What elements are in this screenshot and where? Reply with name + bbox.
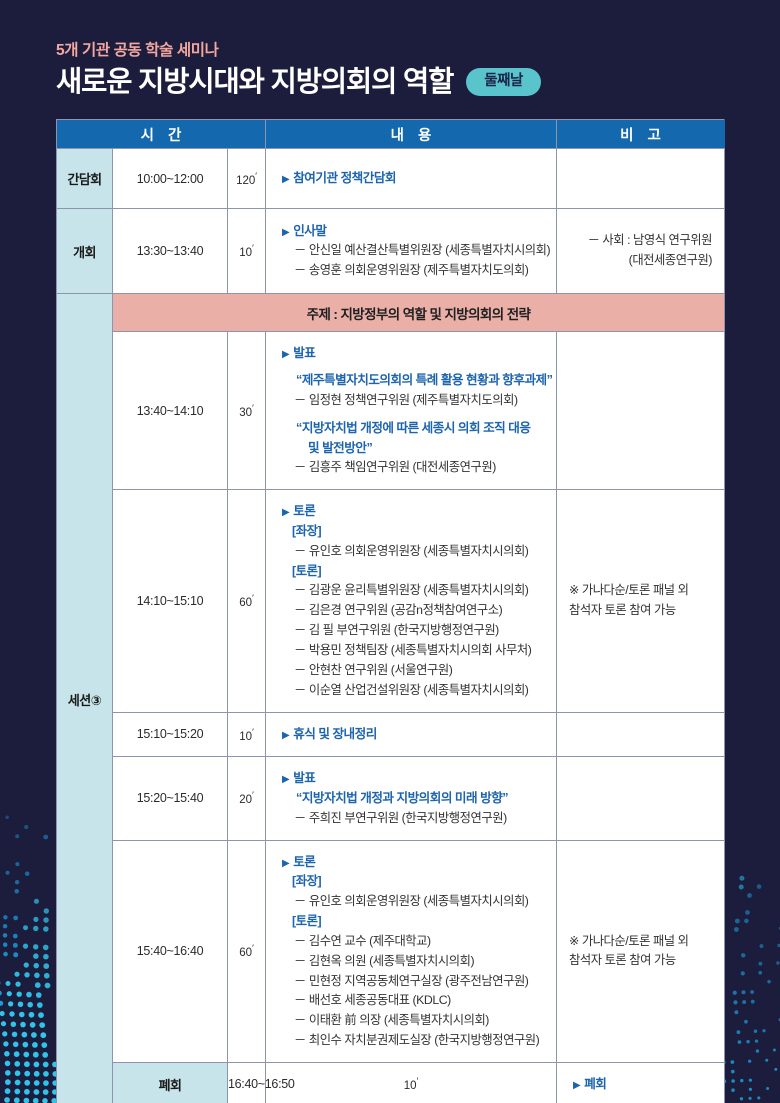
chair-label: [좌장]: [282, 872, 556, 892]
row-remarks: [557, 756, 725, 840]
remark-line: ※ 가나다순/토론 패널 외: [569, 581, 712, 601]
content-heading: ▶토론: [282, 501, 556, 521]
column-header-time: 시 간: [57, 120, 266, 149]
person-entry: － 최인수 자치분권제도실장 (한국지방행정연구원): [282, 1031, 556, 1051]
triangle-bullet-icon: ▶: [282, 507, 289, 518]
row-content: ▶토론 [좌장] － 유인호 의회운영위원장 (세종특별자치시의회) [토론] …: [266, 840, 557, 1063]
person-entry: － 김은경 연구위원 (공감n정책참여연구소): [282, 601, 556, 621]
content-heading: ▶발표: [282, 768, 556, 788]
person-entry: － 배선호 세종공동대표 (KDLC): [282, 991, 556, 1011]
table-row: 15:40~16:40 60′ ▶토론 [좌장] － 유인호 의회운영위원장 (…: [57, 840, 725, 1063]
triangle-bullet-icon: ▶: [282, 349, 289, 360]
row-time: 16:40~16:50: [228, 1063, 266, 1103]
person-entry: － 주희진 부연구위원 (한국지방행정연구원): [282, 809, 556, 829]
table-row: 14:10~15:10 60′ ▶토론 [좌장] － 유인호 의회운영위원장 (…: [57, 490, 725, 713]
content-heading: ▶폐회: [573, 1074, 724, 1094]
row-content: ▶발표 “제주특별자치도의회의 특례 활용 현황과 향후과제” － 임정현 정책…: [266, 332, 557, 490]
row-content: ▶휴식 및 장내정리: [266, 712, 557, 756]
person-entry: － 박용민 정책팀장 (세종특별자치시의회 사무처): [282, 641, 556, 661]
person-entry: － 안신일 예산결산특별위원장 (세종특별자치시의회): [282, 241, 556, 261]
triangle-bullet-icon: ▶: [573, 1080, 580, 1091]
table-row-banner: 세션③ 주제 : 지방정부의 역할 및 지방의회의 전략: [57, 294, 725, 332]
table-row: 15:10~15:20 10′ ▶휴식 및 장내정리: [57, 712, 725, 756]
person-entry: － 김광운 윤리특별위원장 (세종특별자치시의회): [282, 581, 556, 601]
session-label: 폐회: [113, 1063, 228, 1103]
row-duration: 120′: [228, 149, 266, 209]
person-entry: － 김흥주 책임연구위원 (대전세종연구원): [282, 458, 556, 478]
person-entry: － 김현옥 의원 (세종특별자치시의회): [282, 952, 556, 972]
session-label-span: 세션③: [57, 294, 113, 1103]
content-heading: ▶인사말: [282, 221, 556, 241]
person-entry: － 김 필 부연구위원 (한국지방행정연구원): [282, 621, 556, 641]
remark-line: － 사회 : 남영식 연구위원: [569, 231, 712, 251]
triangle-bullet-icon: ▶: [282, 174, 289, 185]
day-badge: 둘째날: [466, 68, 541, 96]
row-remarks: [557, 332, 725, 490]
person-entry: － 송영훈 의회운영위원장 (제주특별자치도의회): [282, 261, 556, 281]
poster-header: 5개 기관 공동 학술 세미나 새로운 지방시대와 지방의회의 역할 둘째날: [56, 42, 541, 98]
chair-label: [좌장]: [282, 522, 556, 542]
poster-title: 새로운 지방시대와 지방의회의 역할: [56, 66, 453, 99]
column-header-remarks: 비 고: [557, 120, 725, 149]
schedule-table-wrapper: 시 간 내 용 비 고 간담회 10:00~12:00 120′ ▶참여기관 정…: [56, 119, 724, 1103]
row-time: 15:40~16:40: [113, 840, 228, 1063]
presentation-title: “지방자치법 개정과 지방의회의 미래 방향”: [282, 788, 556, 808]
row-remarks: [557, 712, 725, 756]
schedule-table: 시 간 내 용 비 고 간담회 10:00~12:00 120′ ▶참여기관 정…: [56, 119, 725, 1103]
row-duration: 60′: [228, 490, 266, 713]
person-entry: － 이순열 산업건설위원장 (세종특별자치시의회): [282, 681, 556, 701]
content-heading: ▶휴식 및 장내정리: [282, 724, 556, 744]
person-entry: － 유인호 의회운영위원장 (세종특별자치시의회): [282, 892, 556, 912]
row-content: ▶폐회: [557, 1063, 725, 1103]
seminar-poster: 5개 기관 공동 학술 세미나 새로운 지방시대와 지방의회의 역할 둘째날 시…: [0, 0, 780, 1103]
table-header-row: 시 간 내 용 비 고: [57, 120, 725, 149]
session-label: 개회: [57, 209, 113, 294]
column-header-content: 내 용: [266, 120, 557, 149]
presentation-title-cont: 및 발전방안”: [282, 438, 556, 458]
row-duration: 20′: [228, 756, 266, 840]
person-entry: － 민현정 지역공동체연구실장 (광주전남연구원): [282, 972, 556, 992]
row-duration: 60′: [228, 840, 266, 1063]
row-time: 15:20~15:40: [113, 756, 228, 840]
table-row: 개회 13:30~13:40 10′ ▶인사말 － 안신일 예산결산특별위원장 …: [57, 209, 725, 294]
row-remarks: － 사회 : 남영식 연구위원 (대전세종연구원): [557, 209, 725, 294]
person-entry: － 안현찬 연구위원 (서울연구원): [282, 661, 556, 681]
row-duration: 10′: [228, 209, 266, 294]
row-duration: 30′: [228, 332, 266, 490]
remark-line: (대전세종연구원): [569, 251, 712, 271]
triangle-bullet-icon: ▶: [282, 227, 289, 238]
row-duration: 10′: [266, 1063, 557, 1103]
row-duration: 10′: [228, 712, 266, 756]
row-content: ▶인사말 － 안신일 예산결산특별위원장 (세종특별자치시의회) － 송영훈 의…: [266, 209, 557, 294]
table-row: 15:20~15:40 20′ ▶발표 “지방자치법 개정과 지방의회의 미래 …: [57, 756, 725, 840]
row-time: 10:00~12:00: [113, 149, 228, 209]
row-time: 13:40~14:10: [113, 332, 228, 490]
remark-line: 참석자 토론 참여 가능: [569, 951, 712, 971]
person-entry: － 이태환 前 의장 (세종특별자치시의회): [282, 1011, 556, 1031]
row-time: 14:10~15:10: [113, 490, 228, 713]
row-content: ▶발표 “지방자치법 개정과 지방의회의 미래 방향” － 주희진 부연구위원 …: [266, 756, 557, 840]
row-remarks: ※ 가나다순/토론 패널 외 참석자 토론 참여 가능: [557, 490, 725, 713]
table-row: 13:40~14:10 30′ ▶발표 “제주특별자치도의회의 특례 활용 현황…: [57, 332, 725, 490]
table-row: 간담회 10:00~12:00 120′ ▶참여기관 정책간담회: [57, 149, 725, 209]
row-content: ▶참여기관 정책간담회: [266, 149, 557, 209]
row-time: 13:30~13:40: [113, 209, 228, 294]
presentation-title: “지방자치법 개정에 따른 세종시 의회 조직 대응: [282, 418, 556, 438]
presentation-title: “제주특별자치도의회의 특례 활용 현황과 향후과제”: [282, 370, 556, 390]
topic-banner: 주제 : 지방정부의 역할 및 지방의회의 전략: [113, 294, 725, 332]
poster-kicker: 5개 기관 공동 학술 세미나: [56, 42, 541, 61]
row-remarks: [557, 149, 725, 209]
remark-line: ※ 가나다순/토론 패널 외: [569, 932, 712, 952]
triangle-bullet-icon: ▶: [282, 730, 289, 741]
session-label: 간담회: [57, 149, 113, 209]
row-content: ▶토론 [좌장] － 유인호 의회운영위원장 (세종특별자치시의회) [토론] …: [266, 490, 557, 713]
content-heading: ▶참여기관 정책간담회: [282, 168, 556, 188]
panel-label: [토론]: [282, 912, 556, 932]
triangle-bullet-icon: ▶: [282, 858, 289, 869]
table-row: 폐회 16:40~16:50 10′ ▶폐회: [57, 1063, 725, 1103]
content-heading: ▶발표: [282, 343, 556, 363]
person-entry: － 유인호 의회운영위원장 (세종특별자치시의회): [282, 542, 556, 562]
poster-title-row: 새로운 지방시대와 지방의회의 역할 둘째날: [56, 66, 541, 99]
content-heading: ▶토론: [282, 852, 556, 872]
row-remarks: ※ 가나다순/토론 패널 외 참석자 토론 참여 가능: [557, 840, 725, 1063]
panel-label: [토론]: [282, 562, 556, 582]
remark-line: 참석자 토론 참여 가능: [569, 601, 712, 621]
person-entry: － 김수연 교수 (제주대학교): [282, 932, 556, 952]
triangle-bullet-icon: ▶: [282, 774, 289, 785]
row-time: 15:10~15:20: [113, 712, 228, 756]
person-entry: － 임정현 정책연구위원 (제주특별자치도의회): [282, 391, 556, 411]
